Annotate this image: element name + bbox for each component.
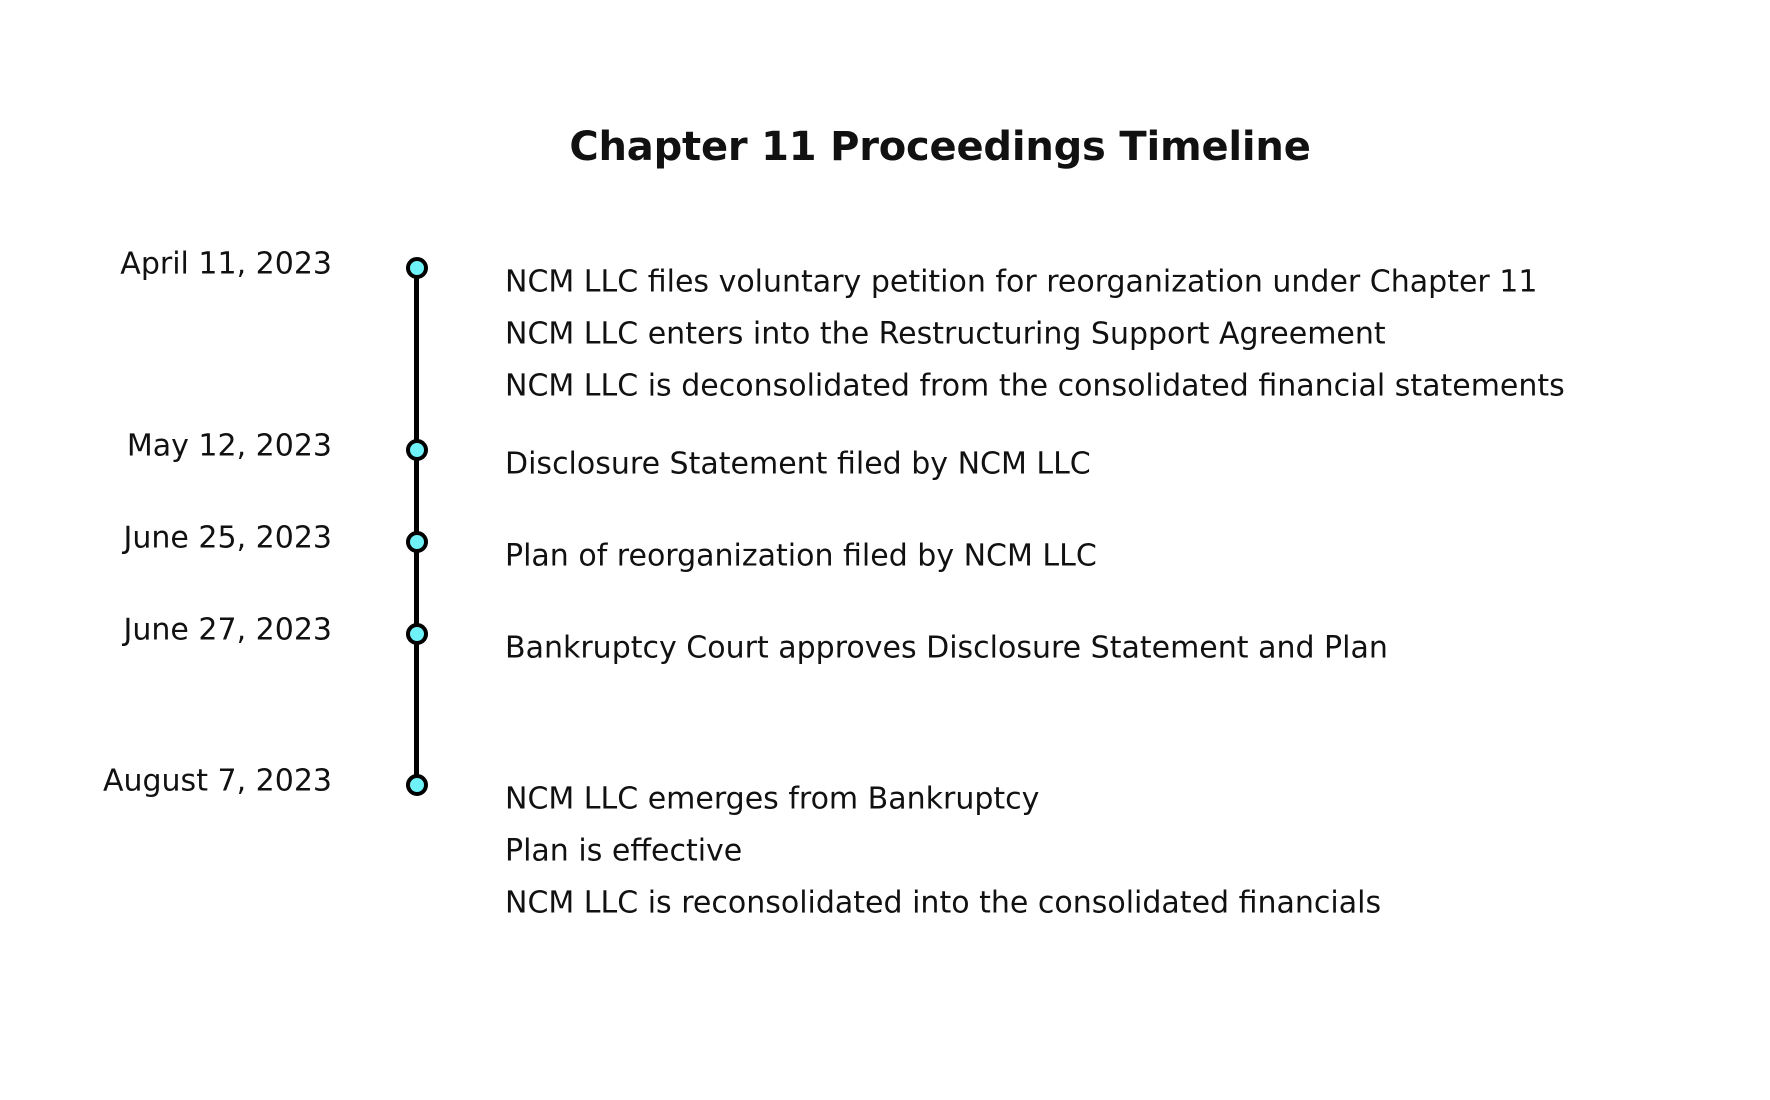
timeline-event-line: Disclosure Statement filed by NCM LLC bbox=[505, 438, 1735, 490]
timeline-date-label: August 7, 2023 bbox=[0, 763, 332, 798]
timeline-marker-dot-icon bbox=[406, 531, 428, 553]
timeline-date-label: May 12, 2023 bbox=[0, 428, 332, 463]
timeline-date-label: April 11, 2023 bbox=[0, 246, 332, 281]
timeline-event-line: NCM LLC is reconsolidated into the conso… bbox=[505, 877, 1735, 929]
timeline-marker-dot-icon bbox=[406, 257, 428, 279]
timeline-event-line: NCM LLC files voluntary petition for reo… bbox=[505, 256, 1735, 308]
timeline-marker-dot-icon bbox=[406, 623, 428, 645]
timeline-marker-dot-icon bbox=[406, 439, 428, 461]
timeline-date-label: June 27, 2023 bbox=[0, 612, 332, 647]
timeline-event-line: Bankruptcy Court approves Disclosure Sta… bbox=[505, 622, 1735, 674]
timeline-event-block: NCM LLC emerges from BankruptcyPlan is e… bbox=[505, 773, 1735, 929]
timeline-marker-dot-icon bbox=[406, 774, 428, 796]
page-title: Chapter 11 Proceedings Timeline bbox=[0, 124, 1770, 170]
timeline-event-line: Plan is effective bbox=[505, 825, 1735, 877]
timeline-event-line: NCM LLC enters into the Restructuring Su… bbox=[505, 308, 1735, 360]
timeline-event-block: Disclosure Statement filed by NCM LLC bbox=[505, 438, 1735, 490]
timeline-diagram: Chapter 11 Proceedings Timeline April 11… bbox=[0, 0, 1770, 1100]
timeline-event-block: Bankruptcy Court approves Disclosure Sta… bbox=[505, 622, 1735, 674]
timeline-event-block: Plan of reorganization filed by NCM LLC bbox=[505, 530, 1735, 582]
timeline-event-line: NCM LLC emerges from Bankruptcy bbox=[505, 773, 1735, 825]
timeline-date-label: June 25, 2023 bbox=[0, 520, 332, 555]
timeline-event-block: NCM LLC files voluntary petition for reo… bbox=[505, 256, 1735, 412]
timeline-axis-line bbox=[414, 268, 419, 786]
timeline-event-line: NCM LLC is deconsolidated from the conso… bbox=[505, 360, 1735, 412]
timeline-event-line: Plan of reorganization filed by NCM LLC bbox=[505, 530, 1735, 582]
